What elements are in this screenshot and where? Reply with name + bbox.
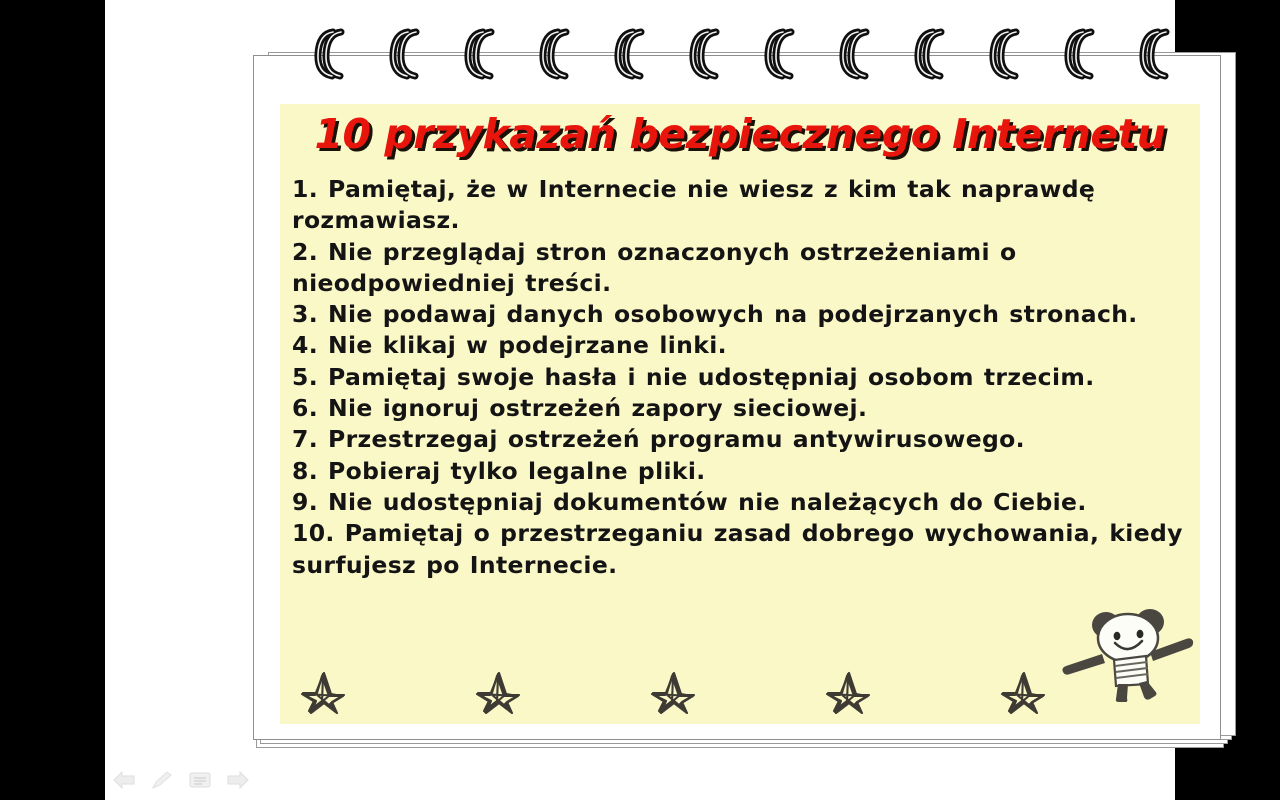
commandment-item: 9. Nie udostępniaj dokumentów nie należą… bbox=[292, 487, 1192, 518]
slide-canvas: 10 przykazań bezpiecznego Internetu 1. P… bbox=[105, 0, 1175, 800]
next-slide-icon[interactable] bbox=[226, 769, 250, 791]
commandment-item: 6. Nie ignoruj ostrzeżeń zapory sieciowe… bbox=[292, 393, 1192, 424]
panda-mascot-icon bbox=[1058, 606, 1194, 702]
star-icon bbox=[475, 670, 521, 714]
presentation-toolbar[interactable] bbox=[112, 768, 250, 792]
commandment-item: 5. Pamiętaj swoje hasła i nie udostępnia… bbox=[292, 362, 1192, 393]
page-title: 10 przykazań bezpiecznego Internetu bbox=[280, 110, 1200, 158]
star-icon bbox=[1000, 670, 1046, 714]
commandment-list: 1. Pamiętaj, że w Internecie nie wiesz z… bbox=[292, 174, 1192, 581]
previous-slide-icon[interactable] bbox=[112, 769, 136, 791]
slide-menu-icon[interactable] bbox=[188, 769, 212, 791]
commandment-item: 3. Nie podawaj danych osobowych na podej… bbox=[292, 299, 1192, 330]
commandment-item: 4. Nie klikaj w podejrzane linki. bbox=[292, 330, 1192, 361]
star-icon bbox=[825, 670, 871, 714]
star-icon bbox=[300, 670, 346, 714]
commandment-item: 7. Przestrzegaj ostrzeżeń programu antyw… bbox=[292, 424, 1192, 455]
commandment-item: 2. Nie przeglądaj stron oznaczonych ostr… bbox=[292, 237, 1192, 300]
star-icon bbox=[650, 670, 696, 714]
presentation-screen: 10 przykazań bezpiecznego Internetu 1. P… bbox=[0, 0, 1280, 800]
pen-icon[interactable] bbox=[150, 769, 174, 791]
commandment-item: 10. Pamiętaj o przestrzeganiu zasad dobr… bbox=[292, 518, 1192, 581]
yellow-note-panel: 10 przykazań bezpiecznego Internetu 1. P… bbox=[280, 104, 1200, 724]
commandment-item: 8. Pobieraj tylko legalne pliki. bbox=[292, 456, 1192, 487]
commandment-item: 1. Pamiętaj, że w Internecie nie wiesz z… bbox=[292, 174, 1192, 237]
